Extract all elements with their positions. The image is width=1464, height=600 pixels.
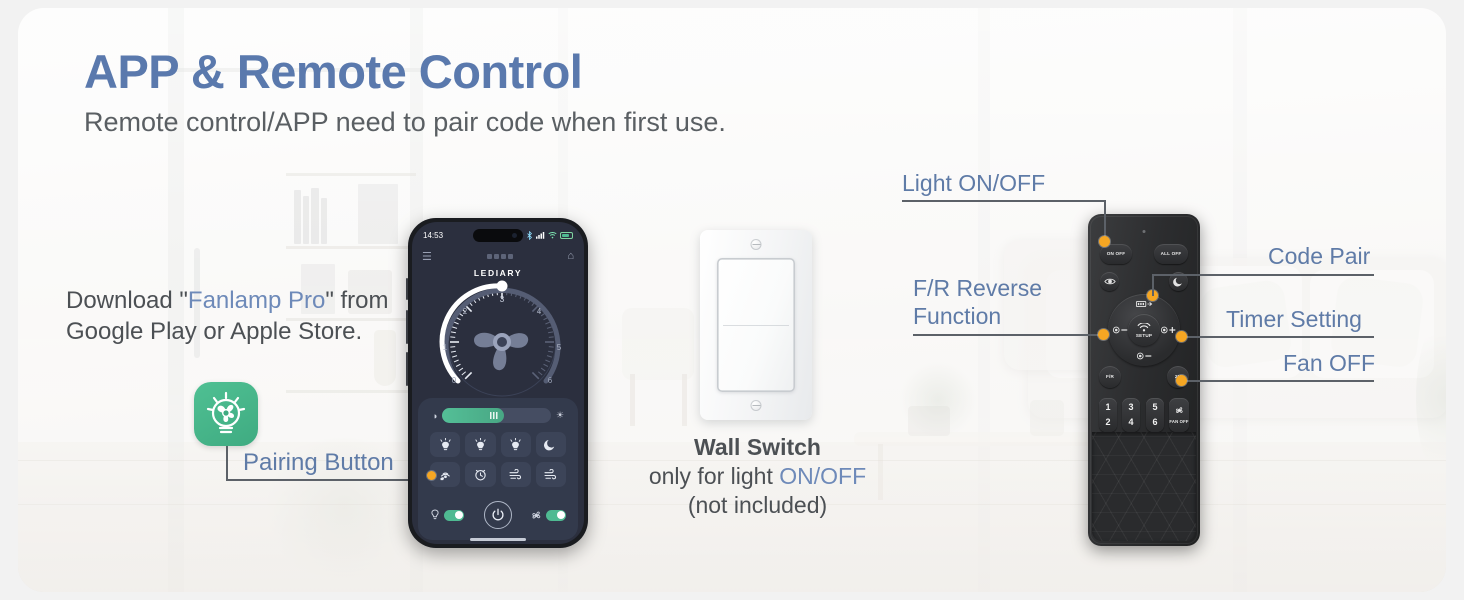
signal-hand-icon [438, 468, 452, 481]
callout-light-on-off: Light ON/OFF [902, 170, 1045, 197]
light-mode-neutral-button[interactable] [465, 432, 495, 457]
pairing-mode-button[interactable] [430, 462, 460, 487]
svg-text:5: 5 [557, 343, 562, 352]
fan-icon [1175, 406, 1184, 415]
bulb-icon [509, 438, 522, 452]
infographic-page: APP & Remote Control Remote control/APP … [0, 0, 1464, 600]
cellular-icon [536, 231, 545, 239]
callout-dot-timer [1176, 331, 1187, 342]
brightness-plus-icon [1160, 326, 1177, 334]
callout-fr-reverse: F/R Reverse [913, 275, 1042, 302]
wall-switch [700, 230, 812, 420]
callout-timer-setting: Timer Setting [1226, 306, 1362, 333]
light-on-off-button[interactable]: ON OFF [1100, 244, 1132, 264]
setup-button[interactable]: SETUP [1128, 314, 1160, 346]
wind-icon [509, 469, 523, 481]
svg-text:3: 3 [500, 295, 505, 304]
svg-text:4: 4 [537, 307, 542, 316]
light-toggle-group[interactable] [430, 509, 464, 521]
numpad-col-3[interactable]: 5 6 [1146, 398, 1164, 432]
breeze-mode-button[interactable] [501, 462, 531, 487]
brightness-high-icon: ☀ [556, 410, 564, 421]
timer-button[interactable] [465, 462, 495, 487]
brightness-slider[interactable] [442, 408, 550, 423]
dim-down-icon [1136, 352, 1153, 360]
battery-icon [560, 232, 573, 239]
num-6: 6 [1152, 418, 1157, 427]
screw-top-icon [751, 239, 762, 250]
bulb-icon [474, 438, 487, 452]
fan-outline-icon [531, 510, 542, 521]
page-title: APP & Remote Control [84, 44, 582, 99]
bluetooth-icon [526, 231, 533, 240]
setup-label: SETUP [1136, 333, 1152, 338]
moon-icon [544, 438, 557, 451]
fr-label: F/R [1106, 375, 1114, 380]
dial-graphic[interactable]: 3 2 4 1 5 0 6 [412, 280, 584, 402]
wall-switch-line3: (not included) [688, 492, 827, 518]
wall-switch-title: Wall Switch [694, 434, 821, 460]
reverse-eye-button[interactable] [1100, 272, 1119, 291]
eye-icon [1104, 277, 1116, 286]
callout-line-fan-off [1186, 380, 1374, 382]
fan-off-button[interactable]: FAN OFF [1169, 398, 1189, 432]
download-suffix: " from [325, 287, 388, 314]
callout-line-light-on-off [902, 200, 1106, 202]
wall-switch-line2-pre: only for light [649, 463, 779, 489]
app-header: ☰ ⌂ [412, 246, 584, 266]
download-instructions: Download "Fanlamp Pro" from Google Play … [66, 285, 426, 347]
light-on-off-label: ON OFF [1107, 252, 1126, 257]
wind-icon [544, 469, 558, 481]
num-2: 2 [1105, 418, 1110, 427]
bottom-controls [430, 502, 566, 528]
wifi-icon [1137, 323, 1151, 332]
status-bar: 14:53 [412, 227, 584, 243]
callout-code-pair: Code Pair [1268, 243, 1370, 270]
status-time: 14:53 [423, 231, 443, 240]
brightness-low-icon: ◑ [432, 411, 437, 421]
callout-fr-function: Function [913, 303, 1001, 330]
wifi-icon [548, 231, 557, 239]
slider-fill [442, 408, 504, 423]
fan-speed-dial[interactable]: 3 2 4 1 5 0 6 [412, 280, 584, 402]
light-minus-button[interactable] [1110, 325, 1130, 335]
light-mode-cool-button[interactable] [501, 432, 531, 457]
pairing-button-label: Pairing Button [243, 449, 394, 477]
fanlamp-app-icon[interactable] [194, 382, 258, 446]
fan-bulb-icon [202, 390, 250, 438]
callout-line-fr [913, 334, 1104, 336]
fan-off-label: FAN OFF [1169, 419, 1188, 424]
numpad-col-1[interactable]: 1 2 [1099, 398, 1117, 432]
bulb-icon [439, 438, 452, 452]
page-subtitle: Remote control/APP need to pair code whe… [84, 107, 726, 138]
all-off-button[interactable]: ALL OFF [1154, 244, 1188, 264]
screw-bottom-icon [751, 400, 762, 411]
control-panel: ◑ ☀ [418, 398, 578, 540]
alarm-clock-icon [474, 468, 487, 481]
callout-line-timer [1186, 336, 1374, 338]
wall-switch-caption: Wall Switch only for light ON/OFF (not i… [605, 433, 910, 520]
all-off-label: ALL OFF [1161, 252, 1182, 257]
power-button[interactable] [484, 501, 512, 529]
svg-text:2: 2 [463, 307, 468, 316]
home-icon[interactable]: ⌂ [567, 250, 574, 262]
page-dots [487, 254, 513, 259]
download-line2: Google Play or Apple Store. [66, 318, 362, 345]
fan-toggle[interactable] [546, 510, 566, 521]
svg-text:1: 1 [443, 343, 448, 352]
phone-screen: 14:53 [412, 222, 584, 544]
rocker-paddle[interactable] [717, 258, 795, 392]
setup-dpad[interactable]: SETUP [1108, 294, 1180, 366]
light-dim-down-button[interactable] [1134, 351, 1154, 361]
callout-line-code-pair [1152, 274, 1374, 276]
light-plus-button[interactable] [1158, 325, 1178, 335]
menu-icon[interactable]: ☰ [422, 250, 432, 263]
natural-wind-button[interactable] [536, 462, 566, 487]
light-mode-warm-button[interactable] [430, 432, 460, 457]
home-indicator [470, 538, 526, 541]
num-4: 4 [1128, 418, 1133, 427]
numpad-col-2[interactable]: 3 4 [1122, 398, 1140, 432]
pairing-marker-dot [427, 471, 436, 480]
power-icon [491, 508, 505, 522]
callout-vline-code-pair [1152, 274, 1154, 296]
callout-dot-fan-off [1176, 375, 1187, 386]
callout-fan-off: Fan OFF [1283, 350, 1375, 377]
brightness-minus-icon [1112, 326, 1129, 334]
fr-button[interactable]: F/R [1099, 366, 1121, 388]
device-brand-label: LEDIARY [412, 268, 584, 278]
svg-text:6: 6 [548, 376, 553, 385]
phone-mockup: 14:53 [408, 218, 588, 548]
light-toggle[interactable] [444, 510, 464, 521]
mode-button-grid [430, 432, 566, 487]
svg-text:0: 0 [452, 376, 457, 385]
ir-led-icon [1143, 230, 1146, 233]
callout-dot-light-on-off [1099, 236, 1110, 247]
num-1: 1 [1105, 403, 1110, 412]
fan-up-icon [1136, 300, 1153, 308]
moon-timer-icon [1173, 276, 1184, 287]
brightness-slider-row[interactable]: ◑ ☀ [432, 408, 564, 423]
fan-toggle-group[interactable] [531, 510, 566, 521]
num-3: 3 [1128, 403, 1133, 412]
pairing-callout-line-vertical [226, 446, 228, 480]
num-5: 5 [1152, 403, 1157, 412]
wall-switch-line2-hl: ON/OFF [779, 463, 866, 489]
callout-dot-fr [1098, 329, 1109, 340]
bulb-outline-icon [430, 509, 440, 521]
slider-grip[interactable] [490, 412, 498, 419]
app-name: Fanlamp Pro [188, 287, 325, 314]
download-prefix: Download " [66, 287, 188, 314]
night-mode-button[interactable] [536, 432, 566, 457]
remote-grip-texture [1092, 432, 1196, 541]
